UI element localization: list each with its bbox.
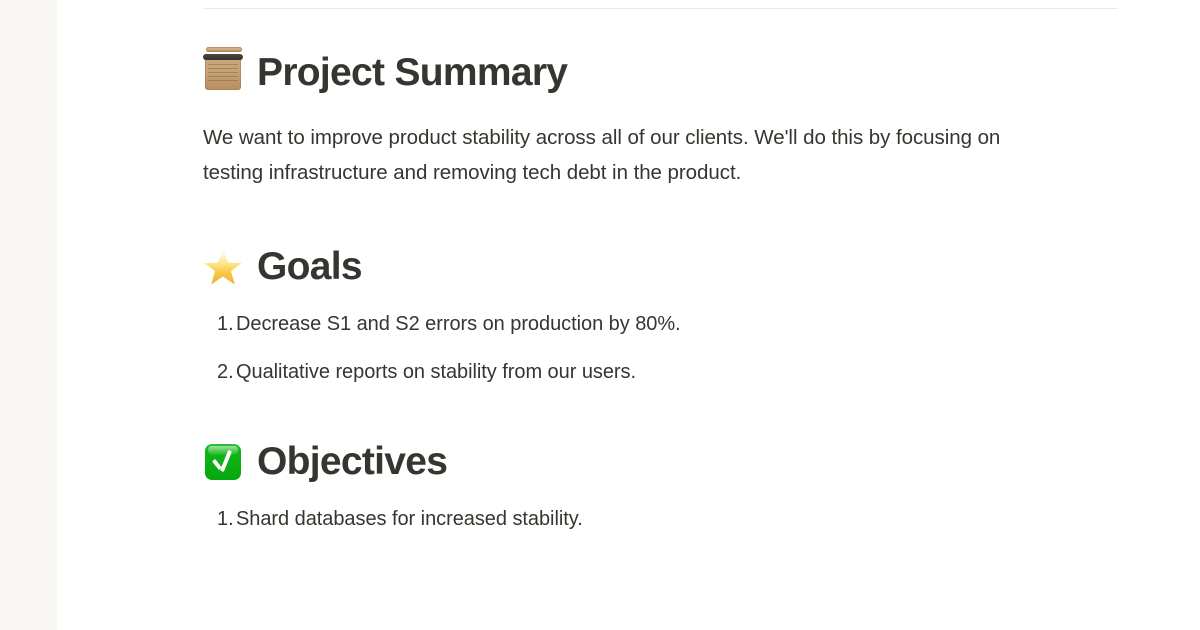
document-content: Project Summary We want to improve produ… — [57, 0, 1200, 630]
section-project-summary: Project Summary We want to improve produ… — [203, 51, 1160, 191]
heading-project-summary: Project Summary — [203, 51, 1160, 96]
list-marker: 1. — [203, 310, 236, 338]
list-item[interactable]: 2. Qualitative reports on stability from… — [203, 358, 1160, 386]
heading-goals: Goals — [203, 245, 1160, 290]
section-goals: Goals 1. Decrease S1 and S2 errors on pr… — [203, 245, 1160, 386]
heading-text: Project Summary — [257, 51, 567, 96]
section-objectives: Objectives 1. Shard databases for increa… — [203, 440, 1160, 533]
list-item[interactable]: 1. Shard databases for increased stabili… — [203, 505, 1160, 533]
heading-objectives: Objectives — [203, 440, 1160, 485]
heading-text: Goals — [257, 245, 362, 290]
objectives-list: 1. Shard databases for increased stabili… — [203, 505, 1160, 533]
scroll-emoji[interactable] — [203, 52, 245, 94]
check-mark-button-emoji[interactable] — [203, 441, 245, 483]
star-emoji[interactable] — [203, 246, 245, 288]
summary-paragraph[interactable]: We want to improve product stability acr… — [203, 120, 1048, 191]
list-marker: 2. — [203, 358, 236, 386]
sidebar[interactable] — [0, 0, 57, 630]
list-item[interactable]: 1. Decrease S1 and S2 errors on producti… — [203, 310, 1160, 338]
goals-list: 1. Decrease S1 and S2 errors on producti… — [203, 310, 1160, 386]
app-window: Project Summary We want to improve produ… — [0, 0, 1200, 630]
list-item-text: Shard databases for increased stability. — [236, 505, 1160, 533]
list-item-text: Decrease S1 and S2 errors on production … — [236, 310, 1160, 338]
heading-text: Objectives — [257, 440, 447, 485]
page-body: Project Summary We want to improve produ… — [57, 8, 1200, 533]
list-marker: 1. — [203, 505, 236, 533]
list-item-text: Qualitative reports on stability from ou… — [236, 358, 1160, 386]
